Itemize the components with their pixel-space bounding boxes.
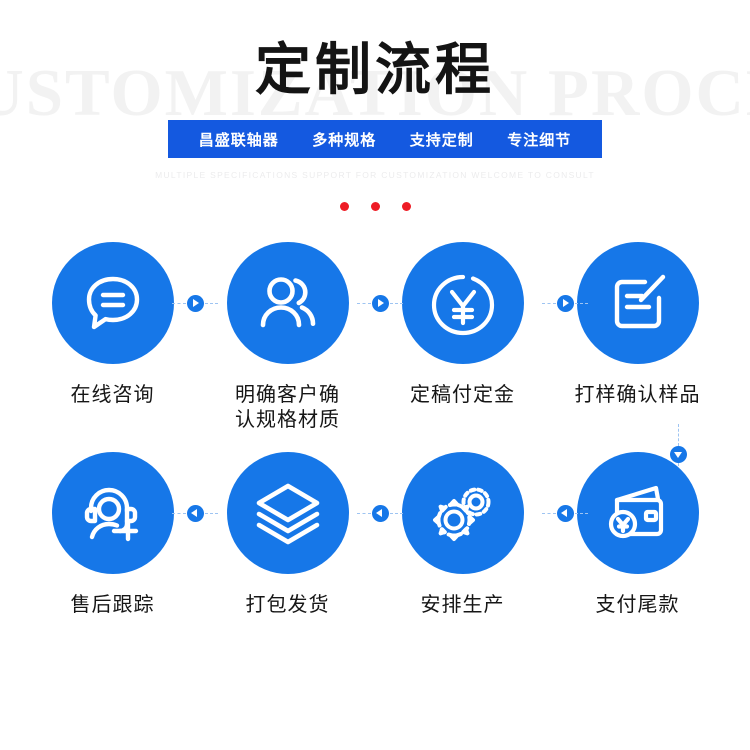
flow-step-sample-confirmation[interactable]: 打样确认样品 xyxy=(568,242,707,432)
flow-step-label: 明确客户确 认规格材质 xyxy=(235,382,340,432)
dashed-line xyxy=(357,513,371,514)
document-edit-icon xyxy=(577,242,699,364)
chat-bubble-icon xyxy=(52,242,174,364)
process-flow: 在线咨询 明确客户确 认规格材质 xyxy=(0,230,750,617)
flow-step-label: 在线咨询 xyxy=(71,382,155,407)
dashed-line xyxy=(357,303,371,304)
dashed-line-vertical xyxy=(678,424,679,446)
banner-item-1: 多种规格 xyxy=(312,129,376,150)
wallet-yuan-icon xyxy=(577,452,699,574)
arrow-right-icon xyxy=(187,295,204,312)
flow-step-label: 支付尾款 xyxy=(596,592,680,617)
page-title: 定制流程 xyxy=(0,40,750,102)
stacked-layers-icon xyxy=(227,452,349,574)
flow-step-label: 打包发货 xyxy=(246,592,330,617)
flow-step-label: 安排生产 xyxy=(421,592,505,617)
flow-step-label: 定稿付定金 xyxy=(410,382,515,407)
flow-step-deposit-payment[interactable]: 定稿付定金 xyxy=(393,242,532,432)
dashed-line xyxy=(205,303,219,304)
dashed-line xyxy=(172,303,186,304)
dashed-line xyxy=(575,303,589,304)
dashed-line xyxy=(542,513,556,514)
dashed-line xyxy=(172,513,186,514)
flow-step-confirm-specs[interactable]: 明确客户确 认规格材质 xyxy=(218,242,357,432)
page-header: CUSTOMIZATION PROCESS 定制流程 昌盛联轴器 多种规格 支持… xyxy=(0,0,750,230)
flow-connector-left-3 xyxy=(542,502,588,524)
flow-step-label: 打样确认样品 xyxy=(575,382,701,407)
arrow-right-icon xyxy=(372,295,389,312)
dashed-line xyxy=(542,303,556,304)
flow-row-1: 在线咨询 明确客户确 认规格材质 xyxy=(0,242,750,432)
dashed-line xyxy=(205,513,219,514)
flow-connector-left-1 xyxy=(172,502,218,524)
dashed-line xyxy=(390,303,404,304)
flow-step-online-consultation[interactable]: 在线咨询 xyxy=(43,242,182,432)
dashed-line xyxy=(575,513,589,514)
decorative-dots xyxy=(0,202,750,211)
yuan-circle-icon xyxy=(402,242,524,364)
flow-connector-left-2 xyxy=(357,502,403,524)
dot-2 xyxy=(371,202,380,211)
arrow-left-icon xyxy=(557,505,574,522)
arrow-right-icon xyxy=(557,295,574,312)
feature-banner: 昌盛联轴器 多种规格 支持定制 专注细节 xyxy=(168,120,602,158)
two-users-icon xyxy=(227,242,349,364)
flow-connector-right-2 xyxy=(357,292,403,314)
dot-3 xyxy=(402,202,411,211)
dashed-line xyxy=(390,513,404,514)
flow-connector-right-1 xyxy=(172,292,218,314)
banner-item-0: 昌盛联轴器 xyxy=(199,129,279,150)
banner-item-2: 支持定制 xyxy=(410,129,474,150)
flow-connector-right-3 xyxy=(542,292,588,314)
flow-step-packing-shipping[interactable]: 打包发货 xyxy=(218,452,357,617)
arrow-left-icon xyxy=(372,505,389,522)
dot-1 xyxy=(340,202,349,211)
banner-item-3: 专注细节 xyxy=(507,129,571,150)
flow-row-2: 售后跟踪 打包发货 xyxy=(0,452,750,617)
flow-step-final-payment[interactable]: 支付尾款 xyxy=(568,452,707,617)
flow-step-label: 售后跟踪 xyxy=(71,592,155,617)
flow-step-after-sales-tracking[interactable]: 售后跟踪 xyxy=(43,452,182,617)
headset-person-plus-icon xyxy=(52,452,174,574)
gears-icon xyxy=(402,452,524,574)
flow-step-arrange-production[interactable]: 安排生产 xyxy=(393,452,532,617)
subtitle-english: MULTIPLE SPECIFICATIONS SUPPORT FOR CUST… xyxy=(0,170,750,180)
arrow-left-icon xyxy=(187,505,204,522)
